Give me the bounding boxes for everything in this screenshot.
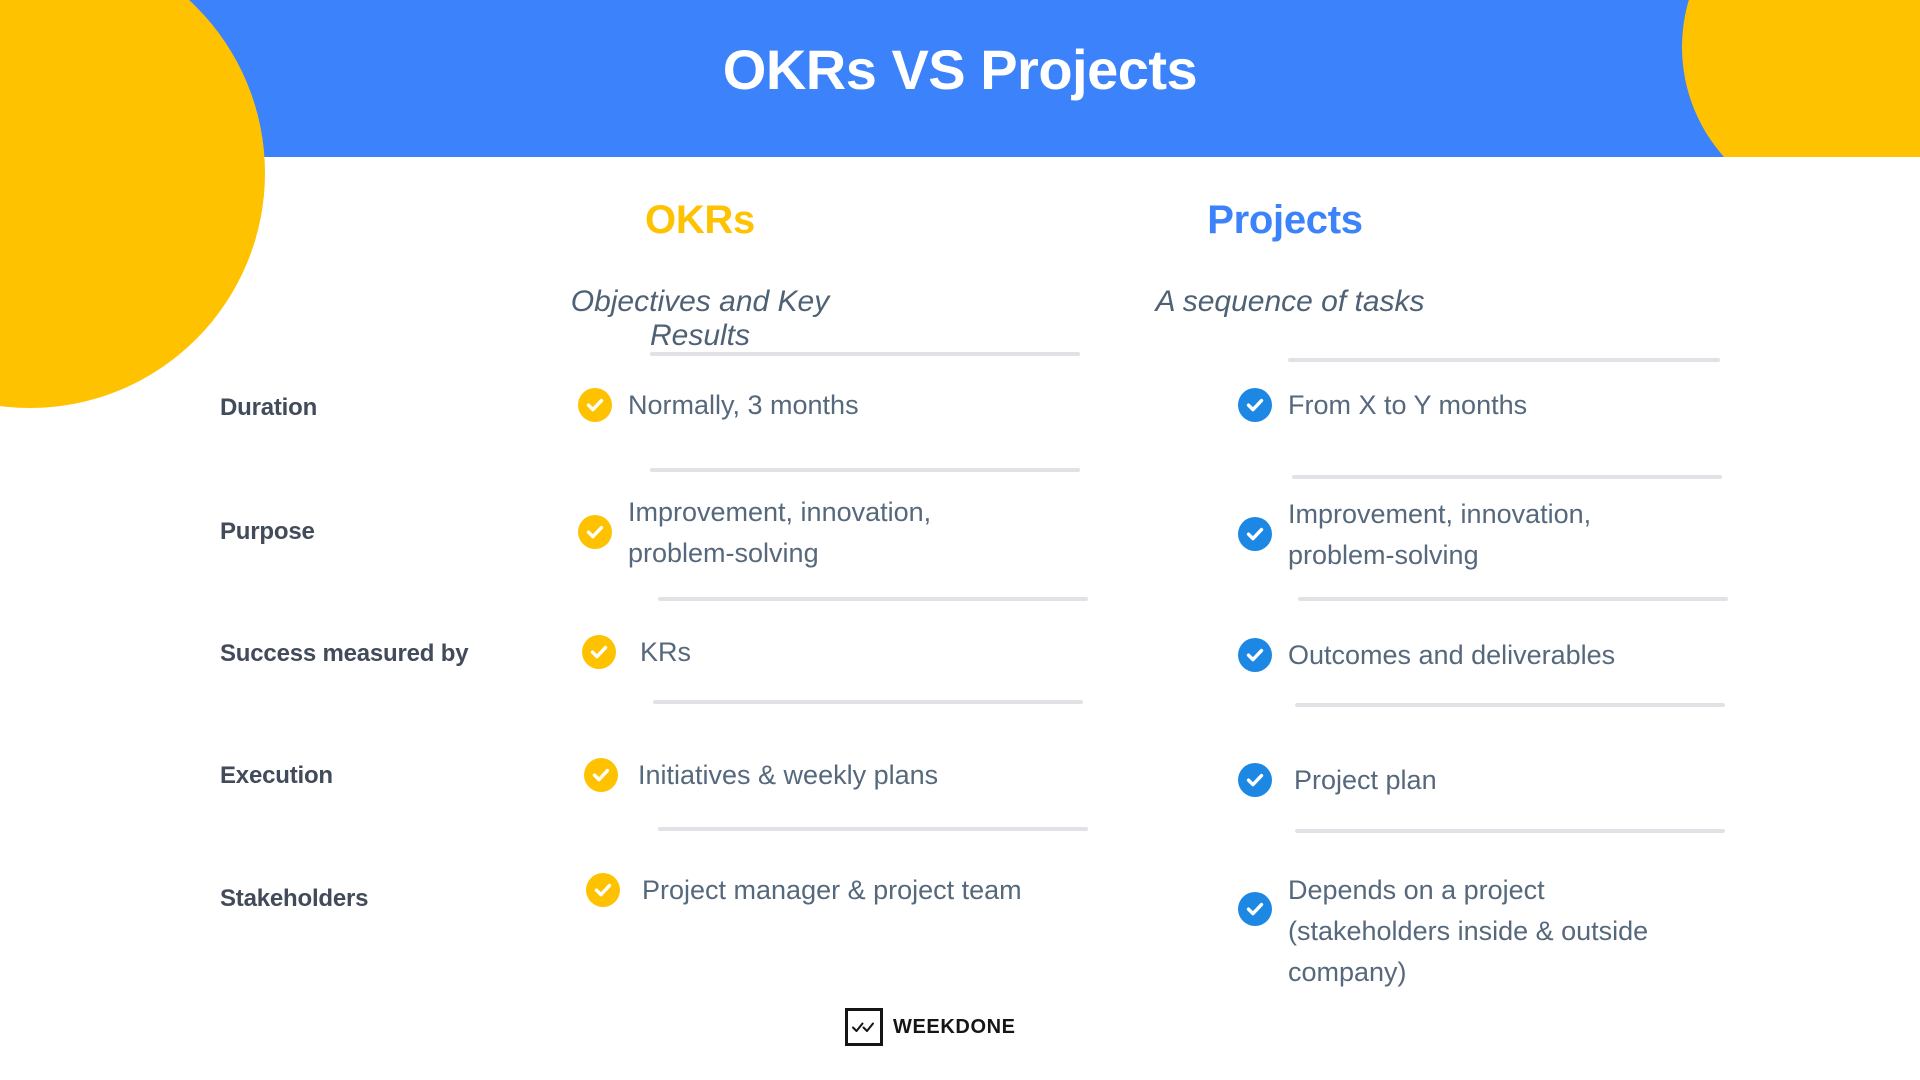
divider-projects-row-1: [1292, 475, 1722, 479]
divider-okrs-row-3: [653, 700, 1083, 704]
column-title-okrs: OKRs: [545, 198, 855, 243]
check-circle-icon: [584, 758, 618, 792]
weekdone-logo: WEEKDONE: [845, 1008, 1016, 1046]
cell-okrs-success: KRs: [582, 632, 1042, 673]
cell-text: Improvement, innovation, problem-solving: [1288, 494, 1591, 576]
brand-name: WEEKDONE: [893, 1016, 1016, 1039]
column-subtitle-projects: A sequence of tasks: [1100, 285, 1480, 319]
cell-text: Project manager & project team: [642, 870, 1022, 911]
divider-projects-header: [1288, 358, 1720, 362]
divider-projects-row-2: [1298, 597, 1728, 601]
cell-text: KRs: [640, 632, 691, 673]
cell-okrs-stakeholders: Project manager & project team: [586, 870, 1066, 911]
cell-text: Initiatives & weekly plans: [638, 755, 938, 796]
column-title-projects: Projects: [1085, 198, 1485, 243]
check-circle-icon: [1238, 638, 1272, 672]
decorative-circle-left: [0, 0, 265, 408]
page-title: OKRs VS Projects: [0, 0, 1920, 157]
check-circle-icon: [586, 873, 620, 907]
divider-projects-row-3: [1295, 703, 1725, 707]
check-circle-icon: [1238, 517, 1272, 551]
column-subtitle-okrs: Objectives and Key Results: [540, 285, 860, 353]
check-circle-icon: [582, 635, 616, 669]
divider-okrs-row-2: [658, 597, 1088, 601]
divider-okrs-row-1: [650, 468, 1080, 472]
divider-okrs-header: [650, 352, 1080, 356]
cell-text: From X to Y months: [1288, 385, 1527, 426]
check-circle-icon: [1238, 388, 1272, 422]
cell-text: Normally, 3 months: [628, 385, 859, 426]
cell-projects-success: Outcomes and deliverables: [1238, 635, 1708, 676]
row-label-success-measured-by: Success measured by: [220, 640, 560, 668]
cell-projects-execution: Project plan: [1238, 760, 1708, 801]
check-circle-icon: [578, 515, 612, 549]
cell-projects-duration: From X to Y months: [1238, 385, 1708, 426]
cell-text: Outcomes and deliverables: [1288, 635, 1615, 676]
cell-text: Depends on a project (stakeholders insid…: [1288, 870, 1648, 993]
cell-text: Project plan: [1294, 760, 1437, 801]
check-circle-icon: [1238, 763, 1272, 797]
divider-projects-row-4: [1295, 829, 1725, 833]
row-label-stakeholders: Stakeholders: [220, 885, 560, 913]
double-check-mark-icon: [845, 1008, 883, 1046]
cell-projects-stakeholders: Depends on a project (stakeholders insid…: [1238, 870, 1718, 993]
cell-text: Improvement, innovation, problem-solving: [628, 492, 931, 574]
cell-okrs-duration: Normally, 3 months: [578, 385, 1038, 426]
cell-okrs-purpose: Improvement, innovation, problem-solving: [578, 492, 1038, 574]
divider-okrs-row-4: [658, 827, 1088, 831]
cell-okrs-execution: Initiatives & weekly plans: [584, 755, 1044, 796]
infographic-canvas: OKRs VS Projects OKRs Objectives and Key…: [0, 0, 1920, 1080]
cell-projects-purpose: Improvement, innovation, problem-solving: [1238, 494, 1708, 576]
check-circle-icon: [1238, 892, 1272, 926]
row-label-execution: Execution: [220, 762, 560, 790]
check-circle-icon: [578, 388, 612, 422]
row-label-duration: Duration: [220, 394, 560, 422]
row-label-purpose: Purpose: [220, 518, 560, 546]
